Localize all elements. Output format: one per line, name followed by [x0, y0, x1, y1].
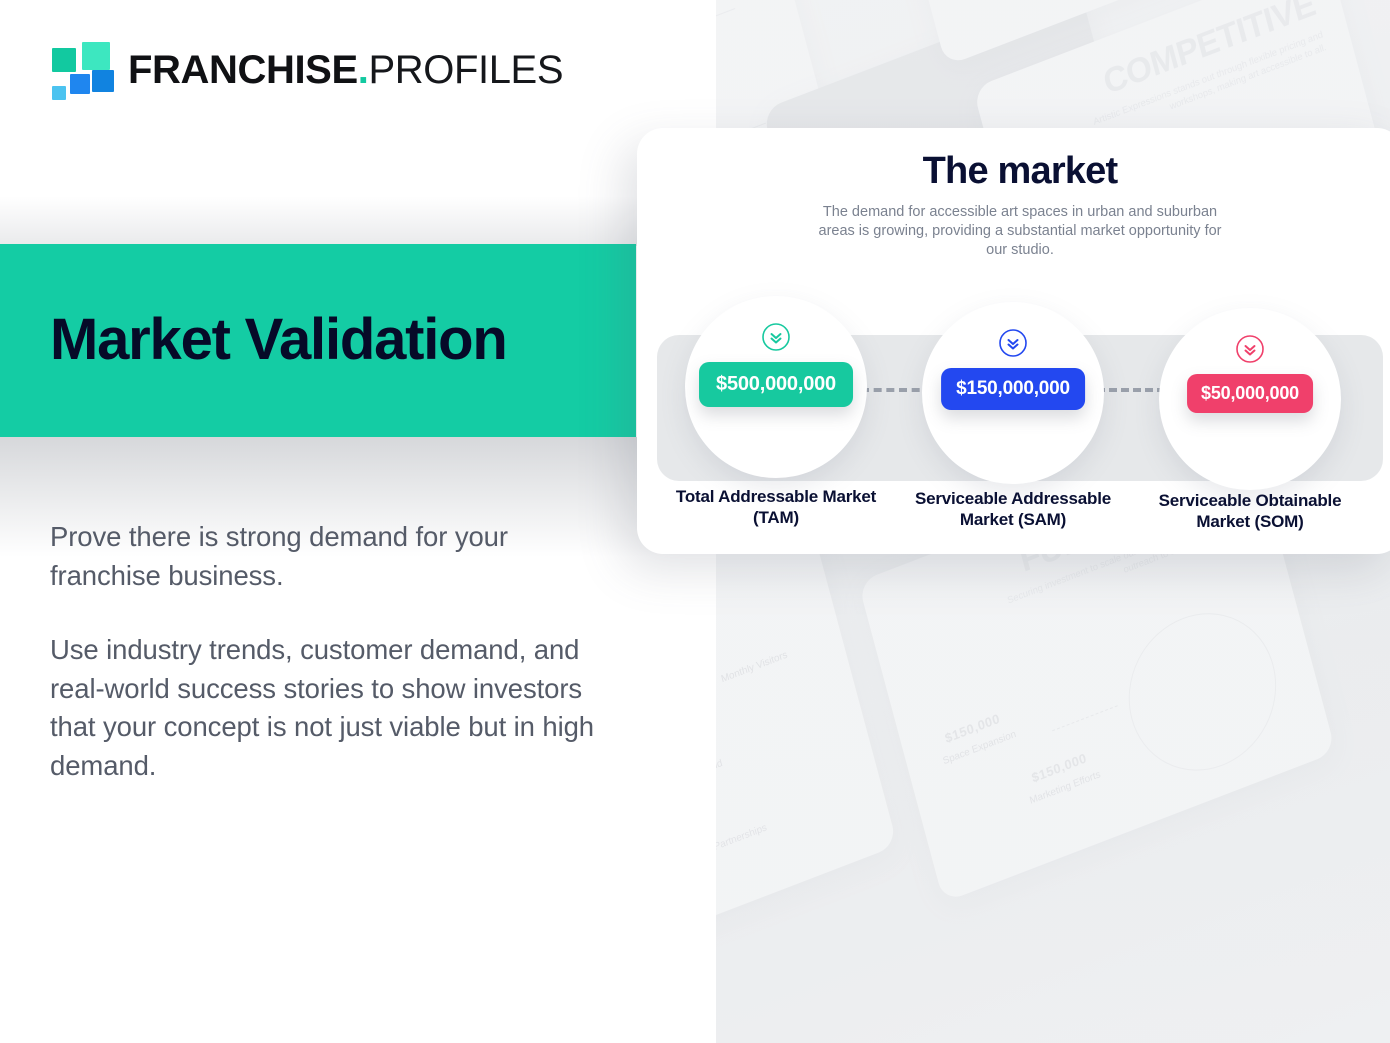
logo-square-2	[82, 42, 110, 70]
brand-name-light: PROFILES	[368, 48, 563, 92]
ghost-rule	[716, 8, 735, 73]
ghost-slide-traction: TRACTION 1,000 Monthly Visitors 75 Works…	[716, 496, 898, 989]
market-card-subtitle: The demand for accessible art spaces in …	[810, 203, 1230, 260]
body-paragraph-2: Use industry trends, customer demand, an…	[50, 631, 610, 785]
brand-wordmark: FRANCHISE.PROFILES	[128, 50, 563, 90]
market-card: The market The demand for accessible art…	[637, 128, 1390, 554]
page-title: Market Validation	[0, 310, 507, 371]
brand-logo[interactable]: FRANCHISE.PROFILES	[48, 42, 563, 98]
banner-top-shadow	[0, 196, 716, 246]
slide-page: Drop-In Fees S Session Workshops Commiss…	[0, 0, 1390, 1043]
brand-name-bold: FRANCHISE	[128, 48, 358, 92]
market-card-title: The market	[637, 128, 1390, 193]
body-paragraph-1: Prove there is strong demand for your fr…	[50, 518, 610, 595]
left-content-panel: FRANCHISE.PROFILES Market Validation Pro…	[0, 0, 716, 1043]
market-label-sam: Serviceable Addressable Market (SAM)	[908, 488, 1118, 530]
chevrons-down-circle-icon	[761, 322, 791, 352]
ghost-donut-chart	[1112, 591, 1293, 793]
market-bubble-sam[interactable]: $150,000,000 Serviceable Addressable Mar…	[922, 302, 1104, 484]
squares-logo-icon	[48, 42, 110, 98]
market-bubble-som[interactable]: $50,000,000 Serviceable Obtainable Marke…	[1159, 308, 1341, 490]
slide-title-banner: Market Validation	[0, 244, 636, 437]
market-value-sam: $150,000,000	[941, 368, 1085, 410]
logo-square-4	[70, 74, 90, 94]
market-value-som: $50,000,000	[1187, 374, 1313, 413]
ghost-stat-label: Monthly Visitors	[720, 648, 789, 686]
brand-name-dot: .	[358, 48, 369, 92]
market-label-tam: Total Addressable Market (TAM)	[671, 486, 881, 528]
market-bubble-tam[interactable]: $500,000,000 Total Addressable Market (T…	[685, 296, 867, 478]
logo-square-3	[92, 70, 114, 92]
logo-square-5	[52, 86, 66, 100]
ghost-connector	[1052, 705, 1118, 731]
chevrons-down-circle-icon	[998, 328, 1028, 358]
market-funnel-diagram: $500,000,000 Total Addressable Market (T…	[637, 278, 1390, 528]
chevrons-down-circle-icon	[1235, 334, 1265, 364]
ghost-stat-label: Community Partnerships	[716, 821, 768, 873]
ghost-stat-label: Workshops Held	[716, 757, 724, 796]
market-label-som: Serviceable Obtainable Market (SOM)	[1145, 490, 1355, 532]
slide-body-copy: Prove there is strong demand for your fr…	[50, 518, 610, 785]
logo-square-1	[52, 48, 76, 72]
market-value-tam: $500,000,000	[699, 362, 853, 407]
